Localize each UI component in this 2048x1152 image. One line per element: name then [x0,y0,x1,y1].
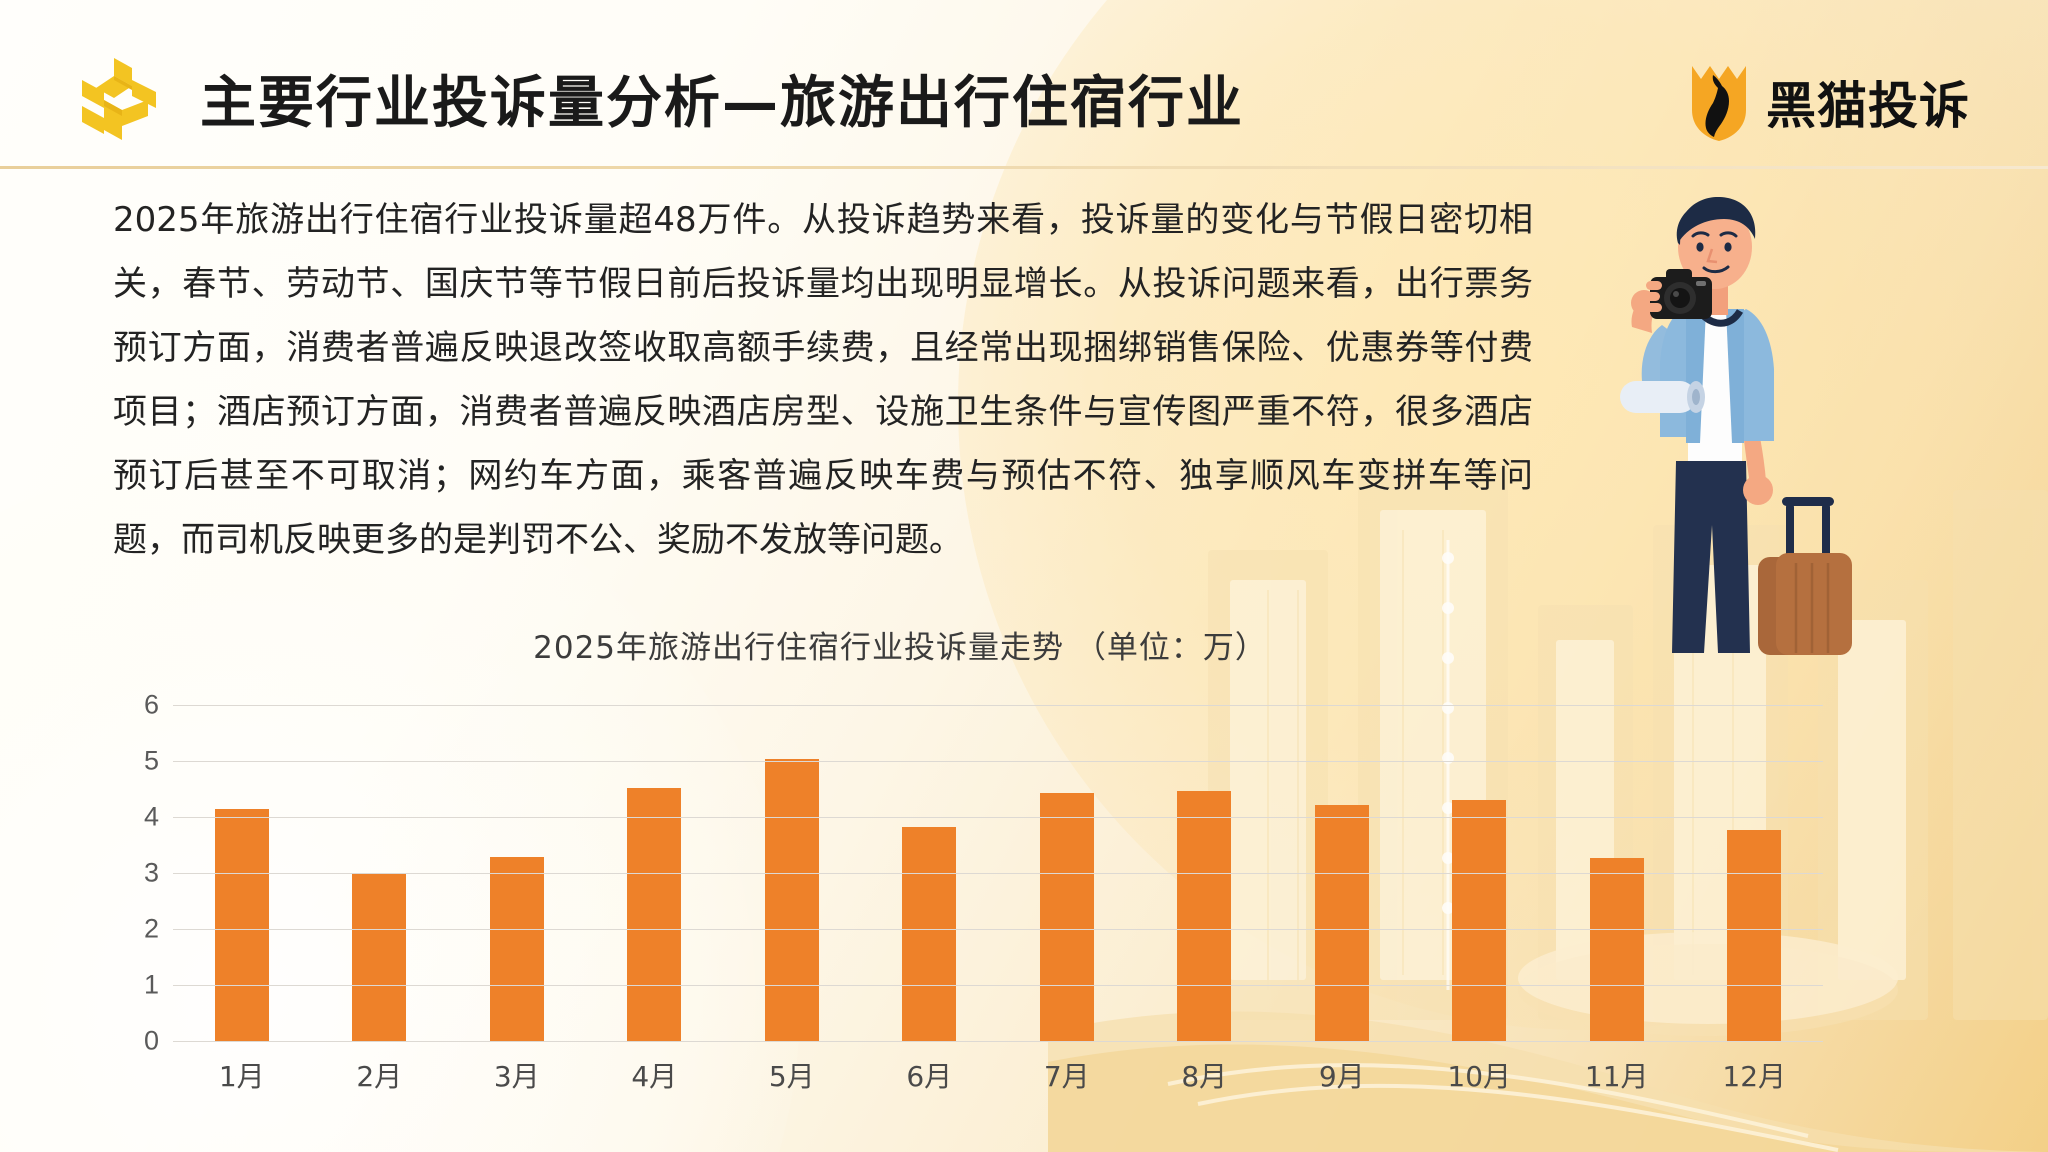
bar-chart: 6543210 1月2月3月4月5月6月7月8月9月10月11月12月 [113,705,1913,1105]
x-tick-label: 6月 [861,1055,999,1095]
grid-line [173,1041,1823,1042]
bar[interactable] [627,788,681,1041]
bar[interactable] [1315,805,1369,1041]
bar[interactable] [1452,800,1506,1041]
x-tick-label: 10月 [1411,1055,1549,1095]
bar[interactable] [765,759,819,1041]
315-logo-icon [70,56,166,142]
x-tick-label: 12月 [1686,1055,1824,1095]
grid-line [173,761,1823,762]
x-tick-label: 8月 [1136,1055,1274,1095]
y-tick-label: 1 [113,970,159,1001]
bar[interactable] [1040,793,1094,1041]
page-header: 主要行业投诉量分析—旅游出行住宿行业 黑猫投诉 [0,0,2048,167]
grid-line [173,929,1823,930]
grid-line [173,817,1823,818]
header-divider [0,166,2048,169]
x-tick-label: 3月 [448,1055,586,1095]
rolled-mat [1620,381,1705,413]
x-tick-label: 4月 [586,1055,724,1095]
x-tick-label: 11月 [1548,1055,1686,1095]
y-tick-label: 6 [113,690,159,721]
black-cat-shield-icon [1688,62,1750,142]
x-axis-labels: 1月2月3月4月5月6月7月8月9月10月11月12月 [173,1055,1823,1095]
bar[interactable] [352,873,406,1041]
y-tick-label: 2 [113,914,159,945]
y-tick-label: 5 [113,746,159,777]
grid-line [173,873,1823,874]
y-axis: 6543210 [113,705,159,1041]
traveler-illustration [1600,185,1900,655]
chart-title: 2025年旅游出行住宿行业投诉量走势 （单位：万） [0,622,1800,667]
x-tick-label: 9月 [1273,1055,1411,1095]
y-tick-label: 0 [113,1026,159,1057]
x-tick-label: 1月 [173,1055,311,1095]
bar[interactable] [490,857,544,1041]
grid-line [173,705,1823,706]
bar[interactable] [215,809,269,1041]
x-tick-label: 5月 [723,1055,861,1095]
brand-logo: 黑猫投诉 [1688,62,1970,142]
bar[interactable] [1590,858,1644,1041]
page-title: 主要行业投诉量分析—旅游出行住宿行业 [200,58,1244,139]
brand-name: 黑猫投诉 [1766,66,1970,138]
bar[interactable] [902,827,956,1041]
grid-line [173,985,1823,986]
bar[interactable] [1177,791,1231,1041]
plot-area [173,705,1823,1041]
y-tick-label: 4 [113,802,159,833]
y-tick-label: 3 [113,858,159,889]
x-tick-label: 7月 [998,1055,1136,1095]
x-tick-label: 2月 [311,1055,449,1095]
summary-paragraph: 2025年旅游出行住宿行业投诉量超48万件。从投诉趋势来看，投诉量的变化与节假日… [113,188,1533,572]
bar[interactable] [1727,830,1781,1041]
